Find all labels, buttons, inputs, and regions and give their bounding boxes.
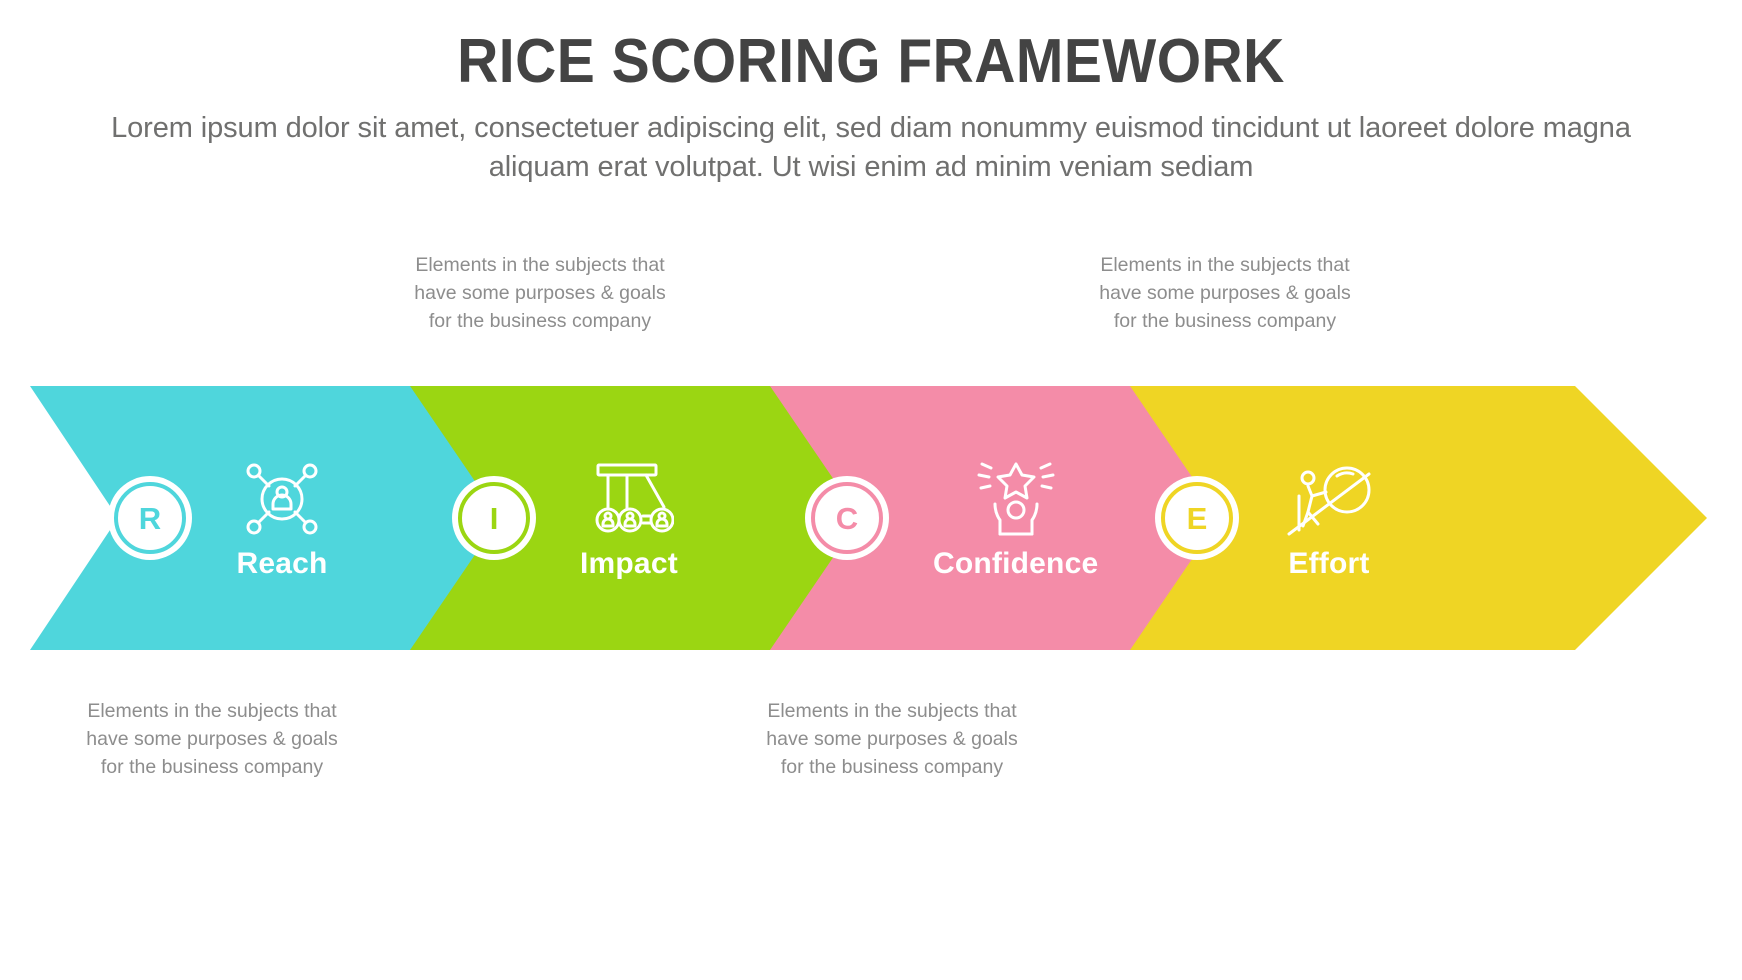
header: RICE SCORING FRAMEWORK Lorem ipsum dolor… [0, 0, 1742, 186]
description-top-reach: Elements in the subjects that have some … [375, 252, 705, 336]
page-title: RICE SCORING FRAMEWORK [70, 26, 1673, 97]
description-top-confidence: Elements in the subjects that have some … [1060, 252, 1390, 336]
description-bottom-impact: Elements in the subjects that have some … [727, 698, 1057, 782]
rice-arrow-band [0, 386, 1742, 650]
description-bottom-reach: Elements in the subjects that have some … [47, 698, 377, 782]
page-subtitle: Lorem ipsum dolor sit amet, consectetuer… [111, 109, 1631, 186]
